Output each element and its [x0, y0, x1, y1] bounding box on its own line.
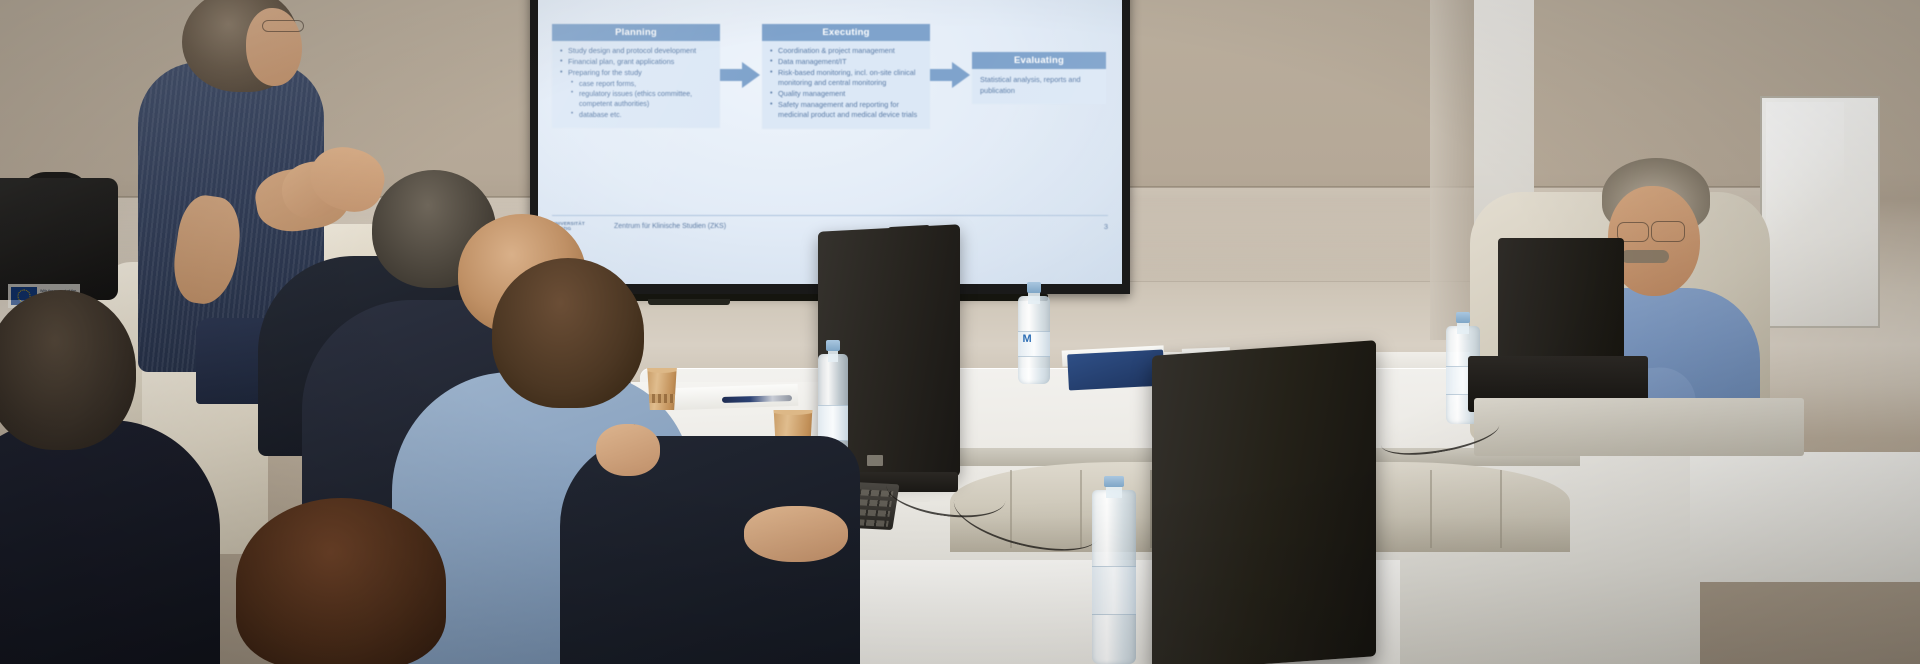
list-item: database etc. [559, 110, 713, 120]
slide-box-executing: Executing Coordination & project managem… [762, 24, 930, 129]
attendee-head [236, 498, 446, 664]
slide-flow-diagram: Planning Study design and protocol devel… [552, 24, 1108, 129]
slide-box-evaluating-body: Statistical analysis, reports and public… [972, 69, 1106, 104]
wall-column [1430, 0, 1474, 340]
slide-box-planning-list: Study design and protocol development Fi… [552, 41, 720, 128]
projector-screen-pull-tab [648, 299, 730, 305]
document-folder [1067, 350, 1165, 391]
list-item: Data management/IT [769, 57, 923, 67]
list-item: Financial plan, grant applications [559, 57, 713, 67]
attendee-moustache [1621, 250, 1669, 263]
slide-box-evaluating: Evaluating Statistical analysis, reports… [972, 52, 1106, 104]
table-base-flute [1500, 470, 1502, 548]
conference-table-right-section [1690, 452, 1920, 582]
paper-coffee-cup [646, 368, 678, 410]
water-bottle: M [1018, 282, 1050, 384]
list-item: Risk-based monitoring, incl. on-site cli… [769, 68, 923, 89]
water-bottle [1092, 476, 1136, 664]
list-item: Study design and protocol development [559, 46, 713, 56]
laptop-bag [0, 178, 118, 300]
attendee-hand-on-keyboard [744, 506, 848, 562]
list-item: Coordination & project management [769, 46, 923, 56]
list-item: Preparing for the study [559, 68, 713, 78]
whiteboard-glare [1766, 102, 1844, 292]
list-item: regulatory issues (ethics committee, com… [559, 89, 713, 109]
slide-box-executing-header: Executing [762, 24, 930, 41]
slide-box-planning-header: Planning [552, 24, 720, 41]
monitor-brand-badge [867, 455, 883, 466]
slide-footer-organization: Zentrum für Klinische Studien (ZKS) [614, 223, 726, 230]
conference-room-photo: Support in all stages of a clinical tria… [0, 0, 1920, 664]
desk-panel [1474, 398, 1804, 456]
attendee-glasses-icon [1651, 221, 1685, 242]
slide-page-number: 3 [1104, 222, 1108, 231]
list-item: case report forms, [559, 79, 713, 89]
attendee-torso [0, 420, 220, 664]
slide-box-executing-list: Coordination & project management Data m… [762, 41, 930, 129]
flow-arrow-icon [720, 62, 762, 88]
table-base-flute [1430, 470, 1432, 548]
list-item: Quality management [769, 89, 923, 99]
all-in-one-monitor[interactable] [1498, 238, 1624, 364]
presenter-glasses-icon [262, 20, 304, 32]
slide-footer: UNIVERSITÄT LEIPZIG Zentrum für Klinisch… [552, 215, 1108, 232]
slide-box-planning: Planning Study design and protocol devel… [552, 24, 720, 128]
list-item: Safety management and reporting for medi… [769, 100, 923, 121]
all-in-one-monitor-foreground[interactable] [1152, 340, 1376, 664]
flow-arrow-icon [930, 62, 972, 88]
attendee-hand-writing [596, 424, 660, 476]
attendee-head [492, 258, 644, 408]
slide-box-evaluating-header: Evaluating [972, 52, 1106, 69]
